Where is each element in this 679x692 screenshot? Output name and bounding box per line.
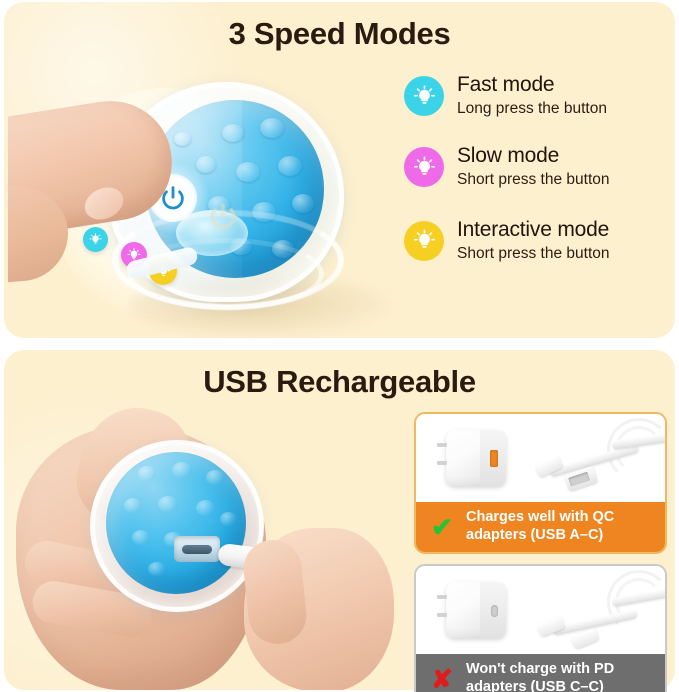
mini-badge-fast [83, 227, 108, 252]
slow-mode-title: Slow mode [457, 145, 610, 168]
adapter-compatibility-cards: ✔ Charges well with QC adapters (USB A–C… [414, 412, 667, 692]
wall-adapter-usb-a [446, 430, 506, 486]
fast-mode-icon-badge [404, 76, 444, 116]
pd-banner-line2: adapters (USB C–C) [466, 679, 614, 692]
qc-banner-line1: Charges well with QC [466, 509, 614, 527]
adapter-prong [437, 461, 447, 465]
card-pd-adapter-unsupported: ✘ Won't charge with PD adapters (USB C–C… [414, 564, 667, 692]
usb-a-port-icon [490, 450, 498, 467]
mode-item-slow: Slow mode Short press the button [404, 145, 672, 188]
ball-bump [222, 124, 244, 142]
page-title-speed-modes: 3 Speed Modes [4, 16, 675, 52]
power-icon-printed [206, 200, 240, 234]
ball-bump [174, 132, 191, 146]
fast-mode-subtitle: Long press the button [457, 100, 607, 118]
fast-mode-text: Fast mode Long press the button [457, 74, 607, 117]
lightbulb-icon [412, 84, 437, 109]
ball-bump [206, 470, 224, 485]
pd-banner-line1: Won't charge with PD [466, 661, 614, 679]
qc-banner-text: Charges well with QC adapters (USB A–C) [466, 509, 614, 544]
ball-bump [220, 512, 237, 526]
pd-banner-text: Won't charge with PD adapters (USB C–C) [466, 661, 614, 692]
usb-c-plug [537, 616, 566, 638]
ball-bump [132, 530, 150, 545]
lightbulb-icon [412, 228, 437, 253]
ball-bump [196, 156, 216, 173]
interactive-mode-icon-badge [404, 221, 444, 261]
mode-item-interactive: Interactive mode Short press the button [404, 219, 672, 262]
ball-bump [158, 496, 178, 512]
infographic-sheet: 3 Speed Modes [0, 0, 679, 692]
lightbulb-icon [412, 155, 437, 180]
ball-bump [236, 162, 260, 182]
red-cross-icon: ✘ [428, 666, 456, 692]
wall-adapter-usb-c [446, 582, 506, 638]
page-title-usb-rechargeable: USB Rechargeable [0, 364, 679, 400]
product-photo-charging [6, 400, 406, 690]
fast-mode-title: Fast mode [457, 74, 607, 97]
usb-a-plug-tip [568, 472, 590, 487]
mode-item-fast: Fast mode Long press the button [404, 74, 672, 117]
ball-bump [172, 462, 192, 478]
interactive-mode-subtitle: Short press the button [457, 245, 610, 263]
green-check-icon: ✔ [428, 514, 456, 540]
slow-mode-icon-badge [404, 147, 444, 187]
adapter-prong [437, 443, 447, 447]
slow-mode-subtitle: Short press the button [457, 171, 610, 189]
slow-mode-text: Slow mode Short press the button [457, 145, 610, 188]
qc-adapter-image [416, 414, 665, 502]
ball-bump [138, 466, 156, 481]
pd-banner: ✘ Won't charge with PD adapters (USB C–C… [416, 654, 665, 692]
usb-c-port-slot [182, 545, 212, 554]
ball-bump [148, 562, 166, 576]
mode-list: Fast mode Long press the button Slow mod [404, 74, 672, 262]
qc-banner-line2: adapters (USB A–C) [466, 527, 614, 545]
fingernail [80, 181, 129, 225]
interactive-mode-title: Interactive mode [457, 219, 610, 242]
adapter-prong [437, 613, 447, 617]
usb-c-charging-port [174, 536, 220, 562]
usb-c-port-icon [491, 605, 498, 617]
product-photo-speed-modes [8, 60, 398, 338]
qc-banner: ✔ Charges well with QC adapters (USB A–C… [416, 502, 665, 552]
ball-bump [278, 156, 302, 176]
ball-bump [124, 498, 142, 513]
card-qc-adapter-supported: ✔ Charges well with QC adapters (USB A–C… [414, 412, 667, 554]
pd-adapter-image [416, 566, 665, 654]
lightbulb-icon [88, 232, 103, 247]
ball-bump [292, 194, 314, 213]
ball-bump [196, 500, 215, 516]
ball-bump [260, 118, 284, 138]
interactive-mode-text: Interactive mode Short press the button [457, 219, 610, 262]
speed-modes-panel: 3 Speed Modes [4, 2, 675, 338]
adapter-prong [437, 595, 447, 599]
